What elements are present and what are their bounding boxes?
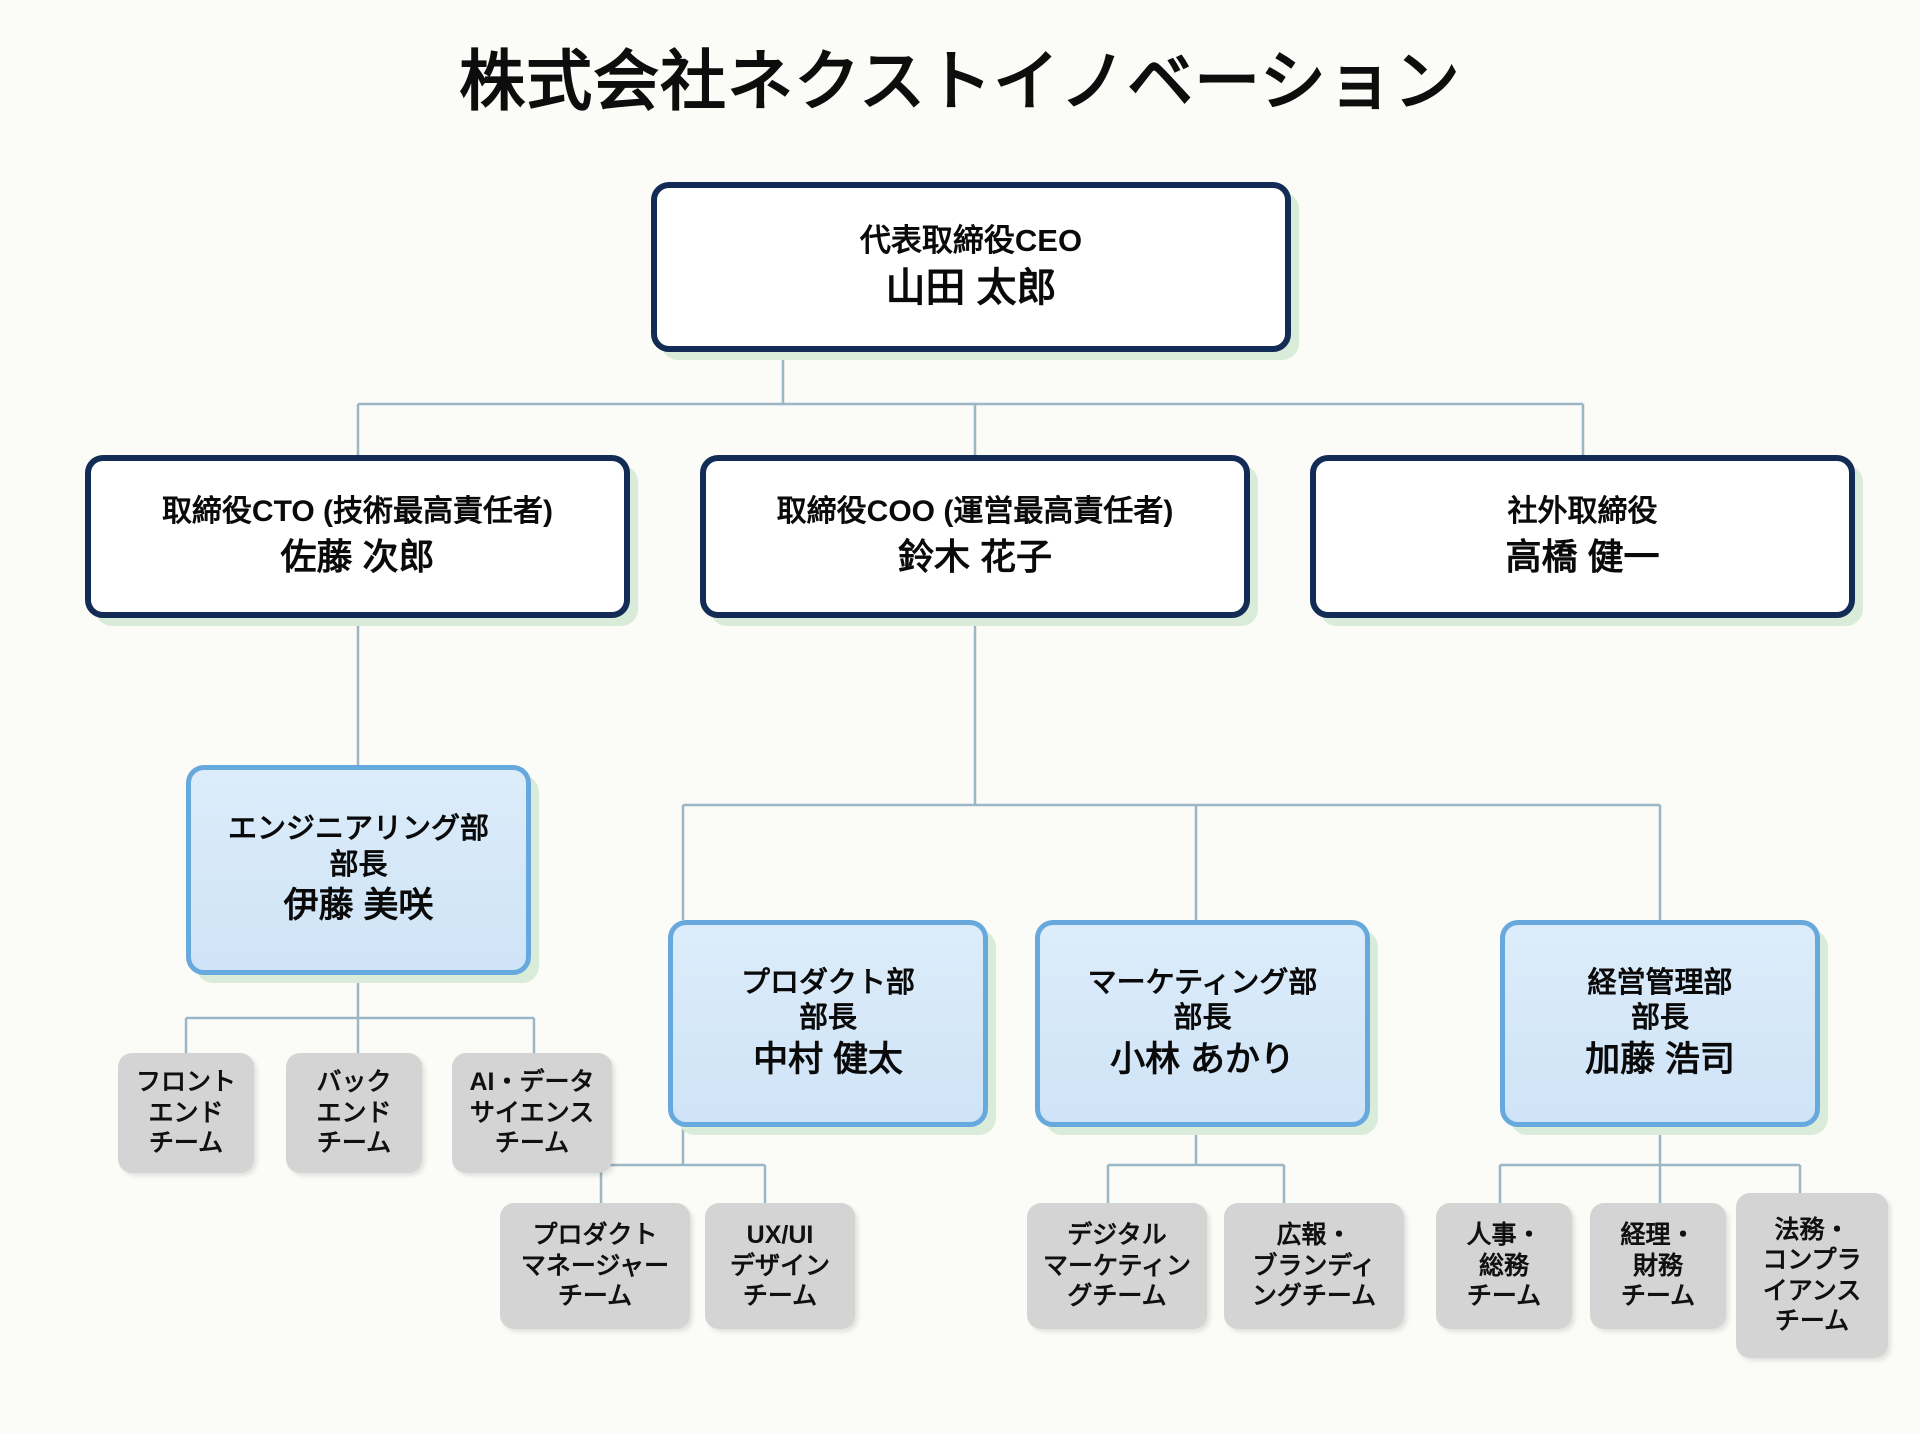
node-marketing-dept-role: マーケティング部 部長 [1040,966,1365,1037]
node-team-ai-data[interactable]: AI・データ サイエンス チーム [452,1053,612,1173]
node-coo[interactable]: 取締役COO (運営最高責任者) 鈴木 花子 [700,455,1250,618]
node-marketing-dept[interactable]: マーケティング部 部長 小林 あかり [1035,920,1370,1127]
node-coo-role: 取締役COO (運営最高責任者) [706,494,1244,531]
node-ceo[interactable]: 代表取締役CEO 山田 太郎 [651,182,1291,352]
node-team-backend[interactable]: バック エンド チーム [286,1053,422,1173]
node-management-dept[interactable]: 経営管理部 部長 加藤 浩司 [1500,920,1820,1127]
node-team-digital-marketing-label: デジタル マーケティン グチーム [1031,1220,1203,1312]
node-management-dept-role: 経営管理部 部長 [1505,966,1815,1037]
node-team-accounting-finance[interactable]: 経理・ 財務 チーム [1590,1203,1726,1329]
node-team-pr-branding[interactable]: 広報・ ブランディ ングチーム [1224,1203,1404,1329]
node-team-backend-label: バック エンド チーム [290,1067,418,1159]
node-team-digital-marketing[interactable]: デジタル マーケティン グチーム [1027,1203,1207,1329]
page-title: 株式会社ネクストイノベーション [0,28,1920,124]
node-product-dept-person: 中村 健太 [673,1039,983,1082]
node-outside-director[interactable]: 社外取締役 高橋 健一 [1310,455,1855,618]
node-outside-director-person: 高橋 健一 [1316,535,1849,579]
node-team-hr-general-label: 人事・ 総務 チーム [1440,1220,1568,1312]
node-engineering-dept[interactable]: エンジニアリング部 部長 伊藤 美咲 [186,765,531,975]
node-team-legal-compliance-label: 法務・ コンプラ イアンス チーム [1740,1215,1884,1337]
node-team-frontend-label: フロント エンド チーム [122,1067,250,1159]
node-cto-person: 佐藤 次郎 [91,535,624,579]
node-ceo-role: 代表取締役CEO [657,222,1285,260]
node-team-product-manager[interactable]: プロダクト マネージャー チーム [500,1203,690,1329]
node-team-legal-compliance[interactable]: 法務・ コンプラ イアンス チーム [1736,1193,1888,1358]
node-engineering-dept-role: エンジニアリング部 部長 [191,812,526,883]
node-coo-person: 鈴木 花子 [706,535,1244,579]
node-cto-role: 取締役CTO (技術最高責任者) [91,494,624,531]
node-marketing-dept-person: 小林 あかり [1040,1039,1365,1082]
node-management-dept-person: 加藤 浩司 [1505,1039,1815,1082]
node-team-hr-general[interactable]: 人事・ 総務 チーム [1436,1203,1572,1329]
node-team-frontend[interactable]: フロント エンド チーム [118,1053,254,1173]
node-outside-director-role: 社外取締役 [1316,494,1849,531]
node-product-dept[interactable]: プロダクト部 部長 中村 健太 [668,920,988,1127]
node-ceo-person: 山田 太郎 [657,264,1285,313]
node-team-uxui-design-label: UX/UI デザイン チーム [709,1220,851,1312]
node-team-pr-branding-label: 広報・ ブランディ ングチーム [1228,1220,1400,1312]
node-team-ai-data-label: AI・データ サイエンス チーム [456,1067,608,1159]
org-chart: 株式会社ネクストイノベーション 代表取締役CEO 山田 太郎 取締役CTO (技… [0,0,1920,1433]
node-team-uxui-design[interactable]: UX/UI デザイン チーム [705,1203,855,1329]
node-cto[interactable]: 取締役CTO (技術最高責任者) 佐藤 次郎 [85,455,630,618]
node-product-dept-role: プロダクト部 部長 [673,966,983,1037]
node-team-product-manager-label: プロダクト マネージャー チーム [504,1220,686,1312]
node-team-accounting-finance-label: 経理・ 財務 チーム [1594,1220,1722,1312]
node-engineering-dept-person: 伊藤 美咲 [191,885,526,928]
